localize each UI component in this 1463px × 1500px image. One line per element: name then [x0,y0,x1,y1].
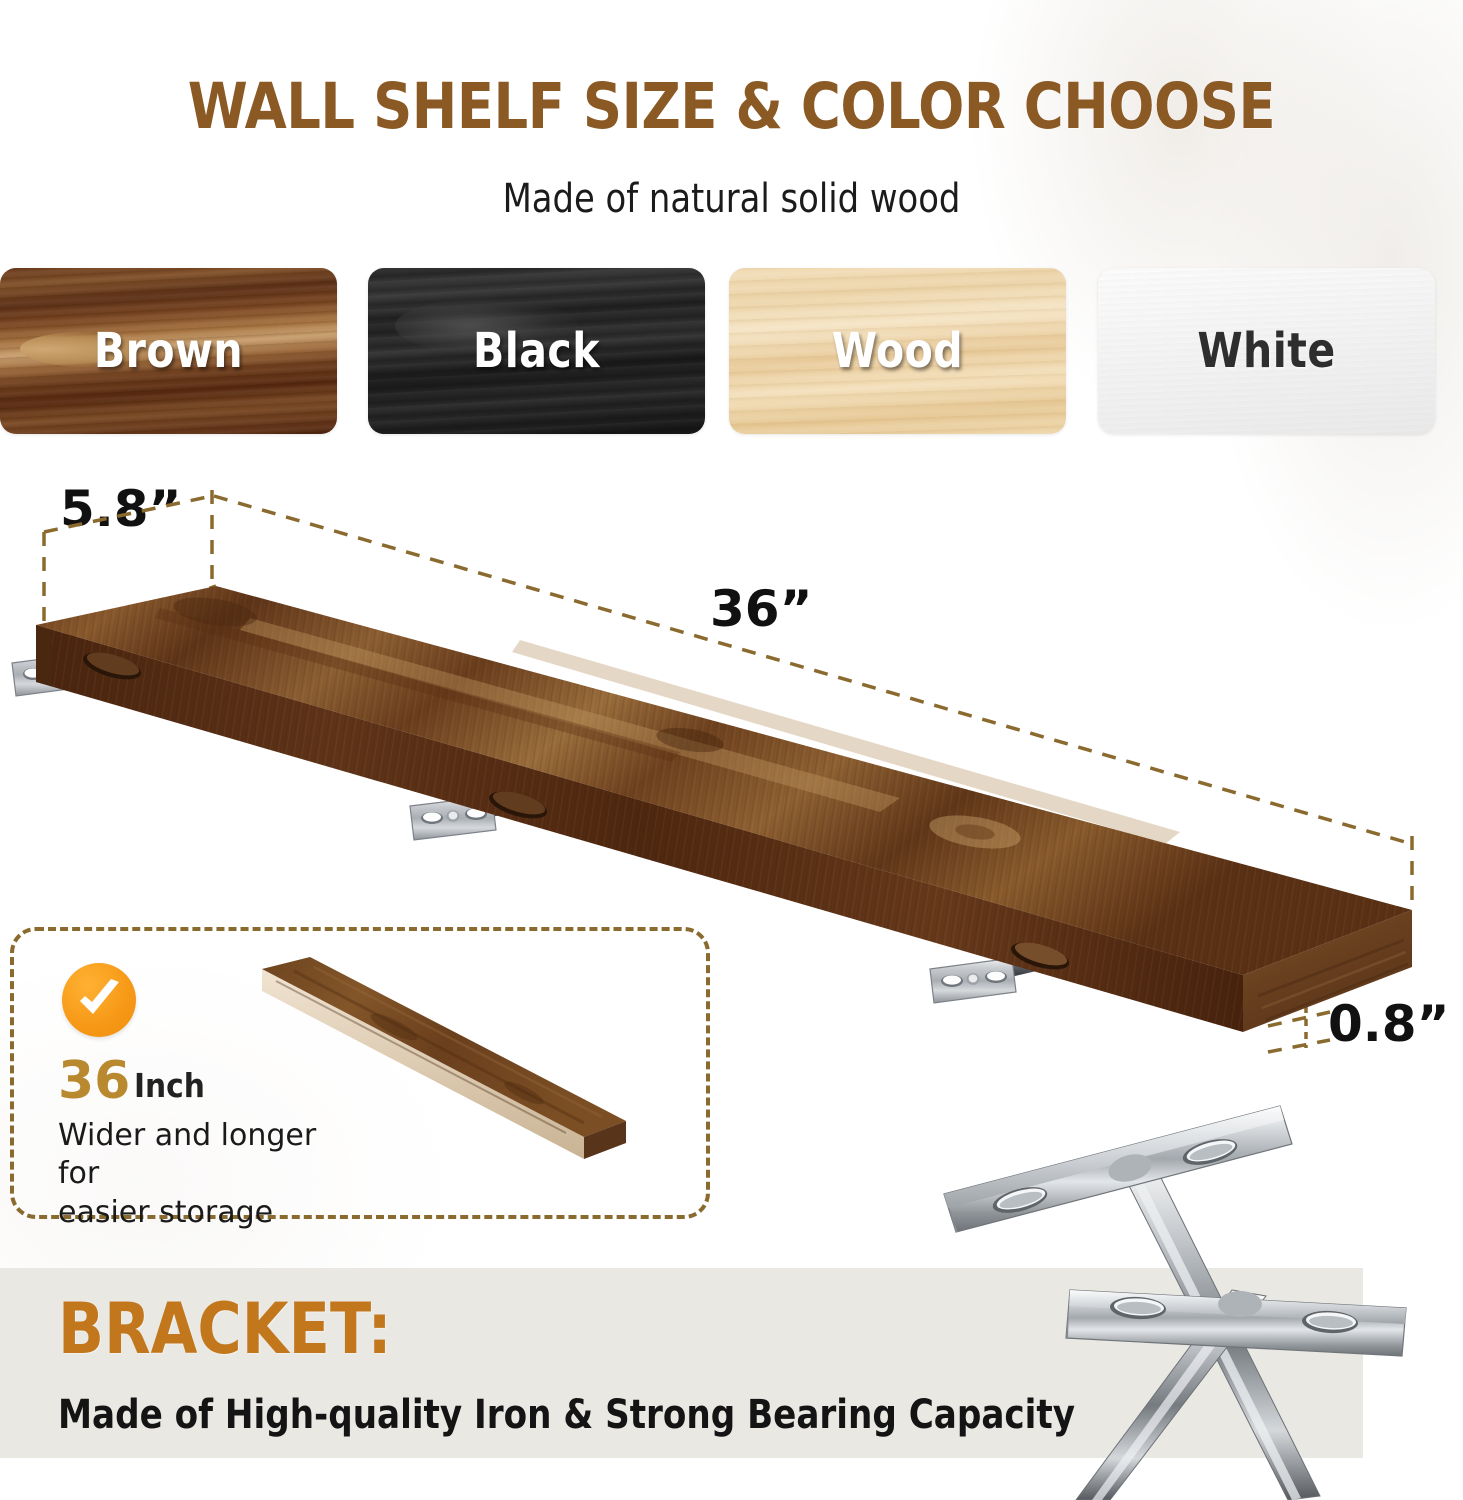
color-swatch-white[interactable]: White [1098,268,1435,434]
color-swatch-black[interactable]: Black [368,268,705,434]
check-circle-icon [62,963,136,1037]
crossed-steel-brackets-image [880,1100,1463,1500]
callout-number: 36 [58,1055,130,1107]
page-subtitle: Made of natural solid wood [44,176,1419,222]
color-swatch-wood[interactable]: Wood [729,268,1066,434]
color-swatch-brown[interactable]: Brown [0,268,337,434]
callout-shelf-board-image [254,941,704,1211]
page-title: WALL SHELF SIZE & COLOR CHOOSE [29,70,1433,143]
color-swatch-brown-label: Brown [8,268,328,434]
color-swatch-black-label: Black [376,268,696,434]
size-feature-callout: 36 Inch Wider and longer for easier stor… [10,927,710,1219]
header-section: WALL SHELF SIZE & COLOR CHOOSE Made of n… [0,0,1463,250]
callout-unit: Inch [134,1069,205,1102]
bracket-section-title: BRACKET: [58,1288,392,1370]
color-swatch-white-label: White [1106,268,1426,434]
color-swatch-wood-label: Wood [737,268,1057,434]
color-swatch-row: Brown Black Wood White [0,268,1463,434]
